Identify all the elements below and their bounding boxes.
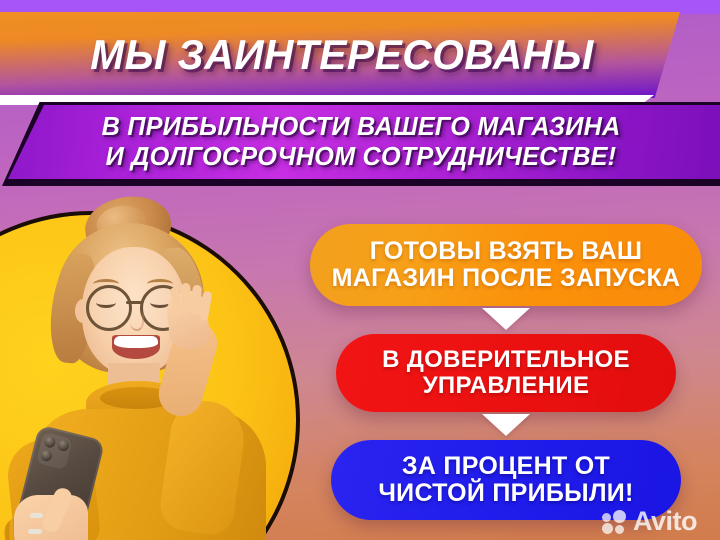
subheadline-line-1: В ПРИБЫЛЬНОСТИ ВАШЕГО МАГАЗИНА (102, 113, 621, 142)
cta-orange-line-2: МАГАЗИН ПОСЛЕ ЗАПУСКА (332, 265, 681, 292)
avito-dot-1 (602, 513, 611, 522)
down-arrow-icon-2 (482, 414, 530, 436)
avito-dot-2 (613, 510, 626, 523)
subheadline-text: В ПРИБЫЛЬНОСТИ ВАШЕГО МАГАЗИНА И ДОЛГОСР… (8, 103, 714, 181)
cta-step-red: В ДОВЕРИТЕЛЬНОЕ УПРАВЛЕНИЕ (336, 334, 676, 412)
smiling-mouth (112, 335, 160, 359)
nose (130, 313, 144, 331)
promo-banner-image: МЫ ЗАИНТЕРЕСОВАНЫ В ПРИБЫЛЬНОСТИ ВАШЕГО … (0, 0, 720, 540)
avito-logo-icon (602, 510, 628, 534)
avito-watermark: Avito (602, 506, 697, 537)
down-arrow-icon-1 (482, 308, 530, 330)
avito-dot-4 (615, 525, 624, 534)
cta-blue-line-2: ЧИСТОЙ ПРИБЫЛИ! (378, 480, 633, 507)
cta-red-line-2: УПРАВЛЕНИЕ (423, 373, 590, 399)
woman-photo (0, 195, 300, 540)
cta-orange-line-1: ГОТОВЫ ВЗЯТЬ ВАШ (370, 238, 643, 265)
eyeglasses-bridge (126, 301, 142, 304)
finger-ring-1 (30, 513, 43, 518)
avito-dot-3 (602, 523, 613, 534)
cta-step-orange: ГОТОВЫ ВЗЯТЬ ВАШ МАГАЗИН ПОСЛЕ ЗАПУСКА (310, 224, 702, 306)
cta-red-line-1: В ДОВЕРИТЕЛЬНОЕ (382, 347, 630, 373)
cta-blue-line-1: ЗА ПРОЦЕНТ ОТ (402, 453, 610, 480)
avito-wordmark: Avito (633, 506, 697, 537)
teeth (114, 336, 158, 348)
eyeglasses-lens-left (86, 285, 132, 331)
headline-text: МЫ ЗАИНТЕРЕСОВАНЫ (10, 12, 673, 98)
subheadline-line-2: И ДОЛГОСРОЧНОМ СОТРУДНИЧЕСТВЕ! (106, 143, 617, 172)
finger-ring-2 (28, 529, 42, 534)
